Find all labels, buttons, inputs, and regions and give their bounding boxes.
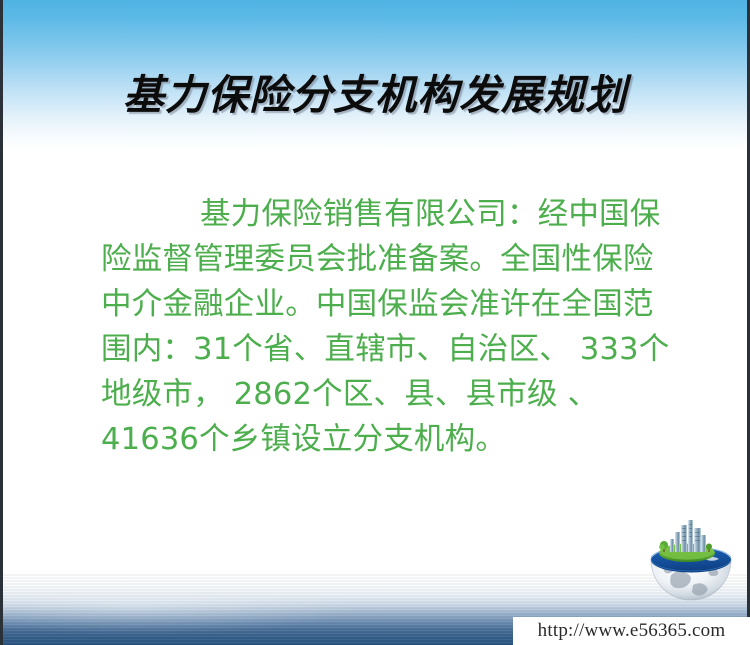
watermark-plate: http://www.e56365.com <box>513 617 750 645</box>
eco-globe-graphic <box>641 513 741 613</box>
slide-title: 基力保险分支机构发展规划 <box>0 61 750 121</box>
presentation-slide: 基力保险分支机构发展规划 基力保险销售有限公司：经中国保险监督管理委员会批准备案… <box>0 0 750 645</box>
slide-body-text: 基力保险销售有限公司：经中国保险监督管理委员会批准备案。全国性保险中介金融企业。… <box>101 192 676 462</box>
watermark-url: http://www.e56365.com <box>538 620 726 642</box>
